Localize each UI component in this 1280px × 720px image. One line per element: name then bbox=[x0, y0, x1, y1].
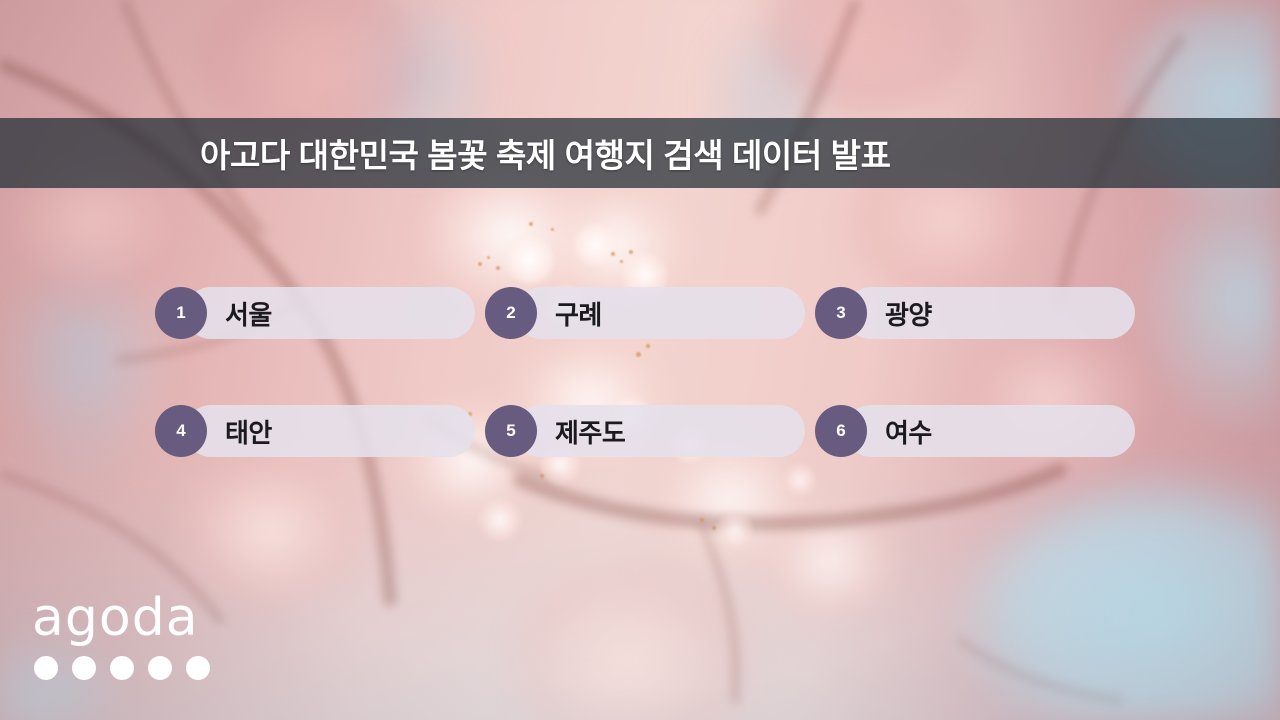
rank-label: 제주도 bbox=[555, 413, 625, 450]
rank-label: 여수 bbox=[885, 413, 932, 450]
logo-dot bbox=[72, 656, 96, 680]
logo-dot bbox=[110, 656, 134, 680]
agoda-logo-dots bbox=[34, 656, 210, 680]
rank-badge: 3 bbox=[815, 287, 867, 339]
rank-item-6[interactable]: 6 여수 bbox=[815, 405, 1145, 457]
logo-dot bbox=[34, 656, 58, 680]
rank-label: 서울 bbox=[225, 295, 272, 332]
logo-dot bbox=[186, 656, 210, 680]
rank-item-5[interactable]: 5 제주도 bbox=[485, 405, 815, 457]
rank-item-2[interactable]: 2 구례 bbox=[485, 287, 815, 339]
rank-item-1[interactable]: 1 서울 bbox=[155, 287, 485, 339]
rank-label: 광양 bbox=[885, 295, 932, 332]
rank-item-4[interactable]: 4 태안 bbox=[155, 405, 485, 457]
agoda-wordmark: agoda bbox=[32, 592, 210, 644]
ranking-row: 4 태안 5 제주도 6 여수 bbox=[155, 405, 1105, 457]
rank-item-3[interactable]: 3 광양 bbox=[815, 287, 1145, 339]
rank-badge: 6 bbox=[815, 405, 867, 457]
rank-label: 구례 bbox=[555, 295, 602, 332]
rank-badge: 4 bbox=[155, 405, 207, 457]
rank-badge: 1 bbox=[155, 287, 207, 339]
page-title: 아고다 대한민국 봄꽃 축제 여행지 검색 데이터 발표 bbox=[0, 129, 891, 177]
rank-label: 태안 bbox=[225, 413, 272, 450]
logo-dot bbox=[148, 656, 172, 680]
ranking-row: 1 서울 2 구례 3 광양 bbox=[155, 287, 1105, 339]
rank-badge: 2 bbox=[485, 287, 537, 339]
agoda-logo: agoda bbox=[32, 592, 210, 680]
rank-badge: 5 bbox=[485, 405, 537, 457]
slide-canvas: 아고다 대한민국 봄꽃 축제 여행지 검색 데이터 발표 1 서울 2 구례 3… bbox=[0, 0, 1280, 720]
title-bar: 아고다 대한민국 봄꽃 축제 여행지 검색 데이터 발표 bbox=[0, 118, 1280, 188]
destination-ranking-list: 1 서울 2 구례 3 광양 4 태안 5 제주도 bbox=[155, 287, 1105, 457]
